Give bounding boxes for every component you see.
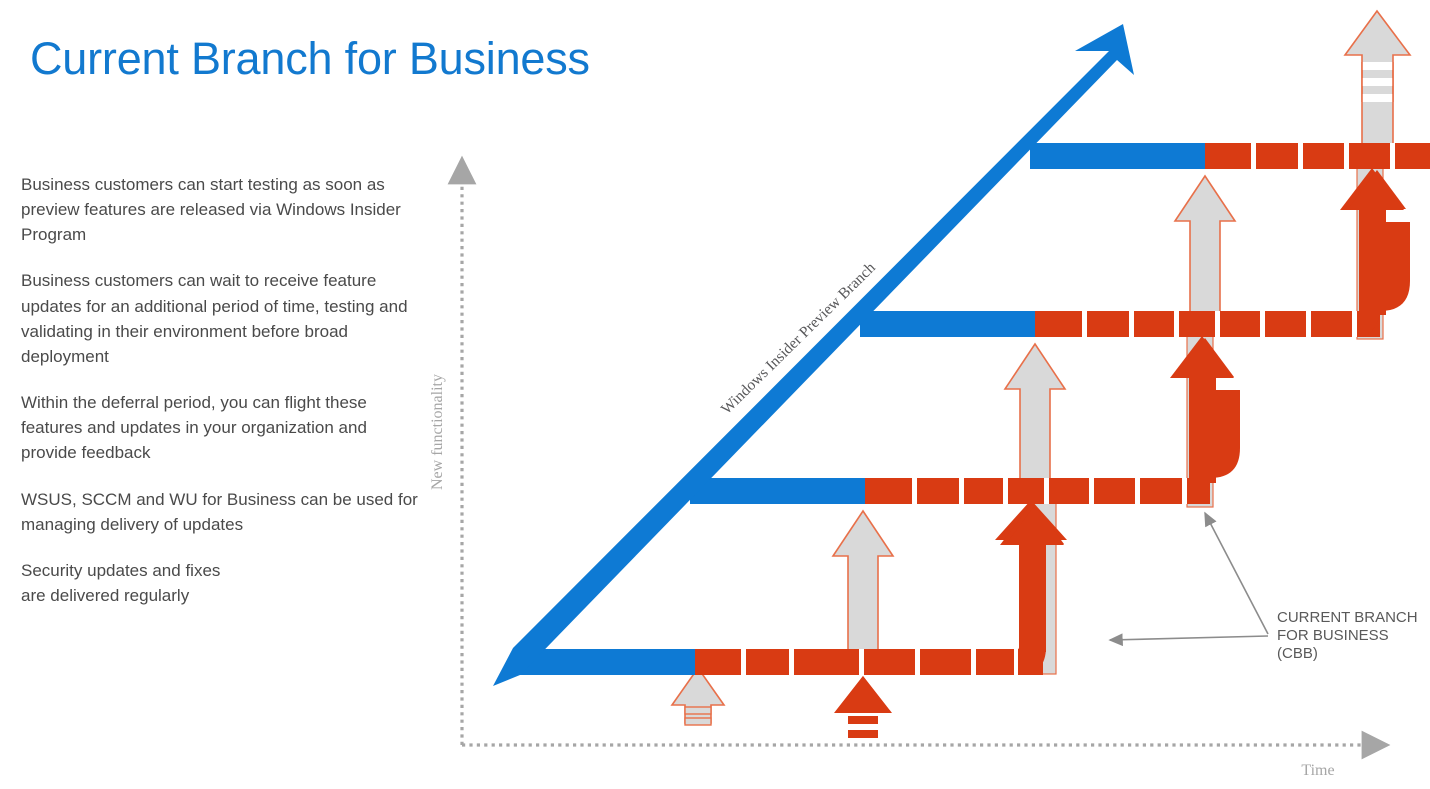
callout-leader-up xyxy=(1205,513,1268,634)
cbb-train-level3 xyxy=(1035,168,1410,337)
blue-branch-level4 xyxy=(1030,143,1205,169)
gray-flight-arrow-bottom xyxy=(672,668,724,725)
gray-riser-level1-to-2 xyxy=(833,511,893,672)
slide-canvas: Current Branch for Business Business cus… xyxy=(0,0,1430,789)
cbb-train-group xyxy=(695,143,1430,675)
callout-line-3: (CBB) xyxy=(1277,645,1318,662)
cbb-train-level4 xyxy=(1205,143,1430,169)
branch-label: Windows Insider Preview Branch xyxy=(718,259,879,418)
blue-branch-level1 xyxy=(520,649,695,675)
cbb-train-level2 xyxy=(865,336,1240,504)
cbb-callout: CURRENT BRANCH FOR BUSINESS (CBB) xyxy=(1110,513,1418,662)
x-axis-label: Time xyxy=(1301,762,1334,779)
callout-leader-left xyxy=(1110,636,1268,640)
y-axis-label: New functionality xyxy=(429,374,446,490)
cbb-train-level1 xyxy=(695,500,1067,675)
blue-branch-level3 xyxy=(860,311,1035,337)
cbb-timeline-diagram: New functionality Time xyxy=(0,0,1430,789)
callout-line-2: FOR BUSINESS xyxy=(1277,627,1389,644)
callout-line-1: CURRENT BRANCH xyxy=(1277,609,1418,626)
blue-branch-level2 xyxy=(690,478,865,504)
red-update-arrow-bottom xyxy=(834,676,892,738)
gray-flight-arrow-top xyxy=(1345,11,1410,150)
red-arrowhead-level3 xyxy=(1176,338,1234,377)
